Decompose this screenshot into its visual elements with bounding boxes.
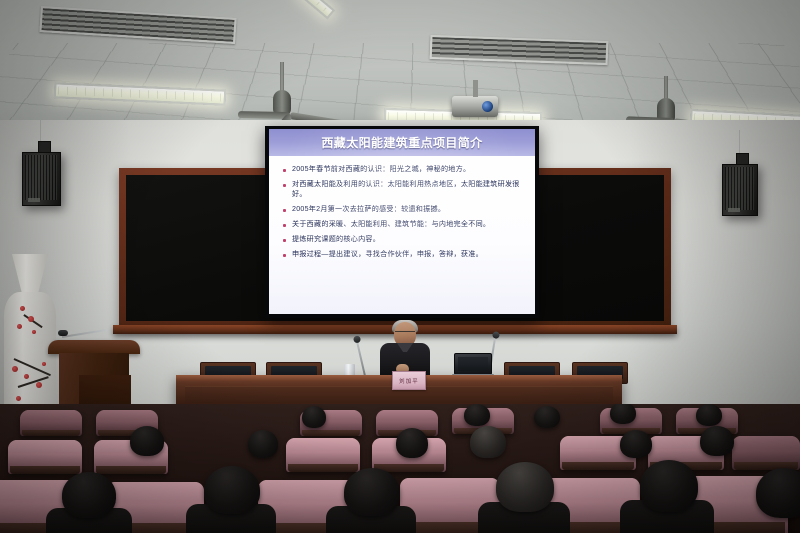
audience-head [464, 404, 490, 426]
slide-bullet-text: 对西藏太阳能及利用的认识：太阳能利用热点地区，太阳能建筑研发很好。 [292, 180, 524, 199]
laptop-screen [454, 353, 492, 375]
slide-bullet: 2005年2月第一次去拉萨的感受：较遗和振撼。 [279, 205, 524, 215]
slide-bullet-text: 2005年春节前对西藏的认识：阳光之城，神秘的地方。 [292, 165, 470, 175]
speaker-grille [25, 155, 57, 200]
audience-head [248, 430, 278, 458]
audience-head [700, 426, 734, 456]
auditorium-seat [286, 438, 360, 472]
audience-head [696, 404, 722, 426]
vase-neck [12, 254, 48, 294]
ceiling-fan [636, 76, 746, 122]
slide-title-bar: 西藏太阳能建筑重点项目简介 [269, 129, 535, 156]
podium-top [48, 340, 140, 354]
hvac-vent [39, 6, 236, 44]
lecture-hall-photo: 建筑学院 西藏太阳能建筑重点项目简介 2005年春节前对西藏的认识：阳光之城，神… [0, 0, 800, 533]
mic-head-icon [58, 330, 68, 336]
projector-lens [482, 101, 493, 112]
audience-head [62, 472, 116, 518]
slide-bullet: 提炼研究课题的核心内容。 [279, 235, 524, 245]
nameplate-text: 刘加平 [399, 377, 419, 385]
slide-bullet: 关于西藏的采暖、太阳能利用、建筑节能：与内地完全不同。 [279, 220, 524, 230]
audience-head [204, 466, 260, 514]
bullet-marker-icon [283, 209, 286, 212]
slide-bullet: 2005年春节前对西藏的认识：阳光之城，神秘的地方。 [279, 165, 524, 175]
projector-mount [473, 80, 478, 97]
slide-bullet: 对西藏太阳能及利用的认识：太阳能利用热点地区，太阳能建筑研发很好。 [279, 180, 524, 199]
mic-arm [62, 329, 108, 338]
plum-blossom [12, 366, 18, 372]
slide-bullet: 申报过程—提出建议，寻找合作伙伴，申报，答辩，获准。 [279, 250, 524, 260]
audience-head [756, 468, 800, 518]
glasses-icon [395, 331, 415, 335]
presentation-slide: 西藏太阳能建筑重点项目简介 2005年春节前对西藏的认识：阳光之城，神秘的地方。… [269, 129, 535, 314]
auditorium-seat [20, 410, 82, 436]
auditorium-seat [732, 436, 800, 470]
audience-head [640, 460, 698, 512]
plum-blossom [32, 330, 36, 334]
plum-blossom [42, 362, 46, 366]
audience-head [396, 428, 428, 458]
bullet-marker-icon [283, 169, 286, 172]
presenter-nameplate: 刘加平 [392, 371, 426, 390]
projection-screen: 西藏太阳能建筑重点项目简介 2005年春节前对西藏的认识：阳光之城，神秘的地方。… [265, 126, 539, 318]
audience-head [620, 430, 652, 458]
audience-head [130, 426, 164, 456]
wall-speaker-left [22, 152, 61, 206]
bullet-marker-icon [283, 254, 286, 257]
plum-blossom [24, 374, 29, 379]
slide-bullet-text: 提炼研究课题的核心内容。 [292, 235, 380, 245]
ceiling-light-panel [297, 0, 335, 19]
plum-blossom [20, 306, 25, 311]
slide-body: 2005年春节前对西藏的认识：阳光之城，神秘的地方。 对西藏太阳能及利用的认识：… [269, 156, 535, 259]
audience-head [302, 406, 326, 428]
bullet-marker-icon [283, 224, 286, 227]
plum-blossom [36, 382, 42, 388]
slide-bullet-text: 申报过程—提出建议，寻找合作伙伴，申报，答辩，获准。 [292, 250, 483, 260]
audience-head [610, 404, 636, 424]
slide-title: 西藏太阳能建筑重点项目简介 [321, 134, 482, 151]
bullet-marker-icon [283, 239, 286, 242]
wall-speaker-right [722, 164, 758, 216]
audience-head [534, 406, 560, 428]
ceiling-fan [246, 62, 356, 114]
auditorium-seat [8, 440, 82, 474]
speaker-logo [728, 208, 740, 212]
speaker-grille [725, 167, 754, 210]
ceiling-projector [452, 96, 498, 117]
slide-bullet-text: 2005年2月第一次去拉萨的感受：较遗和振撼。 [292, 205, 445, 215]
audience-head [344, 468, 400, 516]
ceiling [0, 0, 800, 128]
speaker-bracket [38, 141, 51, 153]
speaker-wire [739, 130, 740, 154]
plum-blossom [28, 316, 34, 322]
audience-head [496, 462, 554, 512]
audience-head [470, 426, 506, 458]
speaker-wire [40, 118, 41, 142]
speaker-bracket [736, 153, 749, 165]
bullet-marker-icon [283, 184, 286, 187]
audience-seating [0, 404, 800, 533]
slide-bullet-text: 关于西藏的采暖、太阳能利用、建筑节能：与内地完全不同。 [292, 220, 490, 230]
plum-blossom [16, 396, 21, 401]
speaker-logo [28, 198, 40, 202]
plum-blossom [17, 324, 22, 329]
